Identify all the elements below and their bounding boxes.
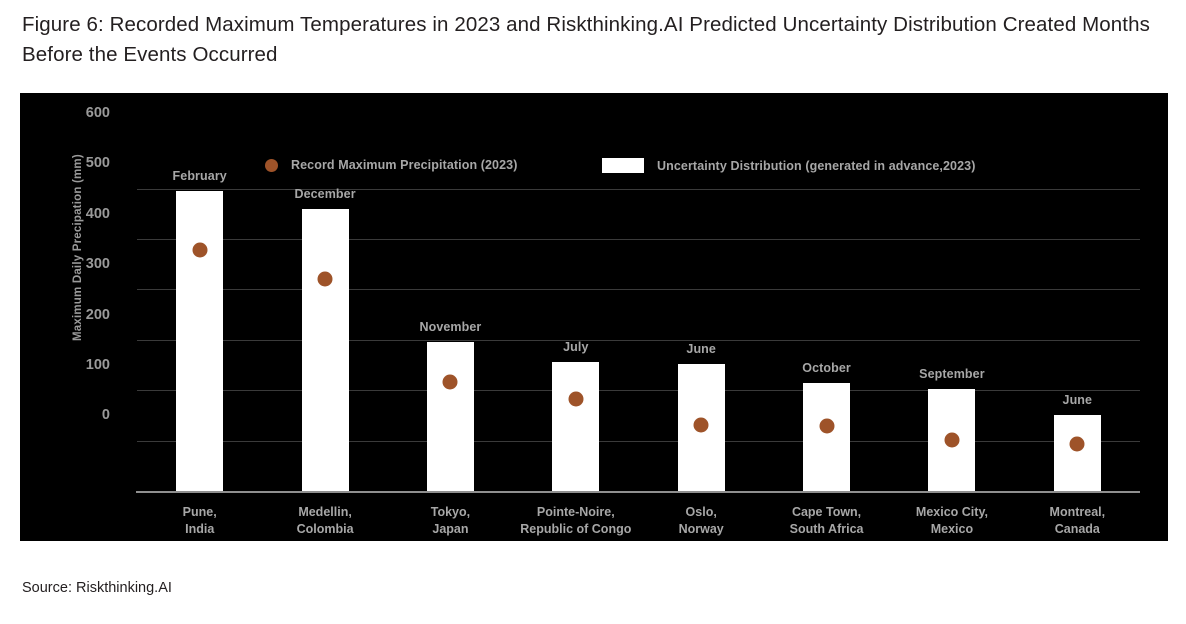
bar	[427, 342, 474, 491]
bar	[552, 362, 599, 491]
x-axis-city: Mexico City,	[916, 504, 988, 521]
bar	[302, 209, 349, 491]
data-point-dot	[1070, 437, 1085, 452]
x-axis-city: Montreal,	[1050, 504, 1106, 521]
gridline	[137, 289, 1140, 290]
gridline	[137, 340, 1140, 341]
month-label: November	[419, 320, 481, 334]
x-axis-category-label: Cape Town,South Africa	[790, 504, 864, 538]
gridline	[137, 189, 1140, 190]
y-axis-tick-label: 100	[20, 357, 110, 373]
x-axis-country: Republic of Congo	[520, 521, 631, 538]
x-axis-category-label: Oslo,Norway	[679, 504, 724, 538]
source-note: Source: Riskthinking.AI	[22, 580, 172, 596]
y-axis-tick-label: 300	[20, 256, 110, 272]
x-axis-country: Japan	[431, 521, 470, 538]
x-axis-city: Medellin,	[297, 504, 354, 521]
y-axis-tick-label: 600	[20, 105, 110, 121]
bar	[803, 383, 850, 491]
gridline	[137, 390, 1140, 391]
bar	[176, 191, 223, 491]
month-label: September	[919, 367, 985, 381]
x-axis-country: Mexico	[916, 521, 988, 538]
x-axis-category-label: Mexico City,Mexico	[916, 504, 988, 538]
x-axis-category-label: Pointe-Noire,Republic of Congo	[520, 504, 631, 538]
month-label: December	[294, 187, 355, 201]
data-point-dot	[568, 391, 583, 406]
x-axis-category-label: Medellin,Colombia	[297, 504, 354, 538]
figure-page: Figure 6: Recorded Maximum Temperatures …	[0, 0, 1186, 624]
month-label: June	[686, 342, 716, 356]
x-axis-country: India	[183, 521, 217, 538]
legend-label: Record Maximum Precipitation (2023)	[291, 158, 517, 172]
month-label: October	[802, 361, 851, 375]
month-label: June	[1063, 393, 1093, 407]
data-point-dot	[443, 374, 458, 389]
legend-dot-icon	[265, 159, 278, 172]
y-axis-tick-label: 0	[20, 407, 110, 423]
legend-bar-icon	[602, 158, 644, 173]
month-label: July	[563, 340, 588, 354]
legend-item-uncertainty-distribution[interactable]: Uncertainty Distribution (generated in a…	[602, 158, 975, 173]
chart-legend: Record Maximum Precipitation (2023) Unce…	[137, 113, 1140, 491]
legend-item-record-maximum-precipitation[interactable]: Record Maximum Precipitation (2023)	[265, 158, 517, 172]
x-axis-country: South Africa	[790, 521, 864, 538]
x-axis-country: Colombia	[297, 521, 354, 538]
bar	[1054, 415, 1101, 491]
data-point-dot	[318, 271, 333, 286]
x-axis-category-label: Tokyo,Japan	[431, 504, 470, 538]
data-point-dot	[192, 242, 207, 257]
gridline	[137, 239, 1140, 240]
x-axis-city: Oslo,	[679, 504, 724, 521]
y-axis-tick-label: 200	[20, 307, 110, 323]
x-axis-line	[136, 491, 1140, 493]
gridline	[137, 441, 1140, 442]
legend-label: Uncertainty Distribution (generated in a…	[657, 159, 975, 173]
x-axis-category-label: Pune,India	[183, 504, 217, 538]
x-axis-country: Norway	[679, 521, 724, 538]
x-axis-city: Pune,	[183, 504, 217, 521]
figure-title: Figure 6: Recorded Maximum Temperatures …	[22, 10, 1172, 70]
y-axis-tick-label: 400	[20, 206, 110, 222]
x-axis-city: Cape Town,	[790, 504, 864, 521]
x-axis-city: Pointe-Noire,	[520, 504, 631, 521]
x-axis-country: Canada	[1050, 521, 1106, 538]
x-axis-city: Tokyo,	[431, 504, 470, 521]
month-label: February	[173, 169, 227, 183]
data-point-dot	[819, 418, 834, 433]
plot-area: 6005004003002001000 FebruaryDecemberNove…	[137, 113, 1140, 491]
data-point-dot	[694, 417, 709, 432]
data-point-dot	[944, 432, 959, 447]
y-axis-tick-label: 500	[20, 155, 110, 171]
x-axis-category-label: Montreal,Canada	[1050, 504, 1106, 538]
chart-panel: Maximum Daily Precipation (mm) 600500400…	[20, 93, 1168, 541]
